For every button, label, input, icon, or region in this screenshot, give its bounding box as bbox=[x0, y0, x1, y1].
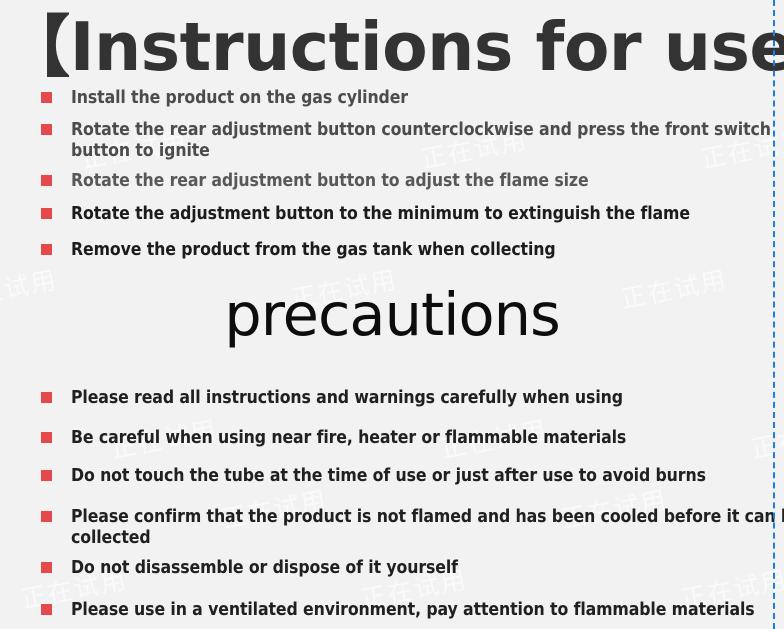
list-item: Be careful when using near fire, heater … bbox=[41, 428, 784, 449]
bullet-square-icon bbox=[41, 511, 52, 522]
bullet-square-icon bbox=[41, 92, 52, 103]
list-item: Please confirm that the product is not f… bbox=[41, 507, 784, 549]
bullet-square-icon bbox=[41, 175, 52, 186]
list-item: Install the product on the gas cylinder bbox=[41, 88, 784, 109]
bullet-square-icon bbox=[41, 124, 52, 135]
list-item: Rotate the adjustment button to the mini… bbox=[41, 204, 784, 225]
list-item: Rotate the rear adjustment button counte… bbox=[41, 120, 781, 162]
list-item-label: Remove the product from the gas tank whe… bbox=[71, 240, 784, 261]
list-item: Rotate the rear adjustment button to adj… bbox=[41, 171, 784, 192]
bullet-square-icon bbox=[41, 244, 52, 255]
section-title-precautions: precautions bbox=[0, 283, 784, 347]
list-item: Do not disassemble or dispose of it your… bbox=[41, 558, 784, 579]
instruction-sheet-page: 正在试用 正在试用 正在试用 正在试用 正在试用 正在试用 正在试用 正在试用 … bbox=[0, 0, 784, 629]
list-item-label: Do not touch the tube at the time of use… bbox=[71, 466, 784, 487]
bullet-square-icon bbox=[41, 470, 52, 481]
list-item: Remove the product from the gas tank whe… bbox=[41, 240, 784, 261]
bullet-square-icon bbox=[41, 604, 52, 615]
list-item-label: Rotate the rear adjustment button to adj… bbox=[71, 171, 784, 192]
list-item-label: Rotate the adjustment button to the mini… bbox=[71, 204, 784, 225]
bullet-square-icon bbox=[41, 392, 52, 403]
list-item: Do not touch the tube at the time of use… bbox=[41, 466, 784, 487]
list-item-label: Be careful when using near fire, heater … bbox=[71, 428, 784, 449]
bullet-square-icon bbox=[41, 562, 52, 573]
list-item-label: Rotate the rear adjustment button counte… bbox=[71, 120, 781, 162]
page-title: 【Instructions for use】 bbox=[4, 8, 780, 86]
crop-guide-line-right[interactable] bbox=[773, 0, 775, 629]
list-item-label: Please read all instructions and warning… bbox=[71, 388, 784, 409]
list-item-label: Please confirm that the product is not f… bbox=[71, 507, 784, 549]
list-item: Please use in a ventilated environment, … bbox=[41, 600, 784, 621]
list-item: Please read all instructions and warning… bbox=[41, 388, 784, 409]
bullet-square-icon bbox=[41, 208, 52, 219]
bullet-square-icon bbox=[41, 432, 52, 443]
list-item-label: Please use in a ventilated environment, … bbox=[71, 600, 784, 621]
list-item-label: Do not disassemble or dispose of it your… bbox=[71, 558, 784, 579]
list-item-label: Install the product on the gas cylinder bbox=[71, 88, 784, 109]
